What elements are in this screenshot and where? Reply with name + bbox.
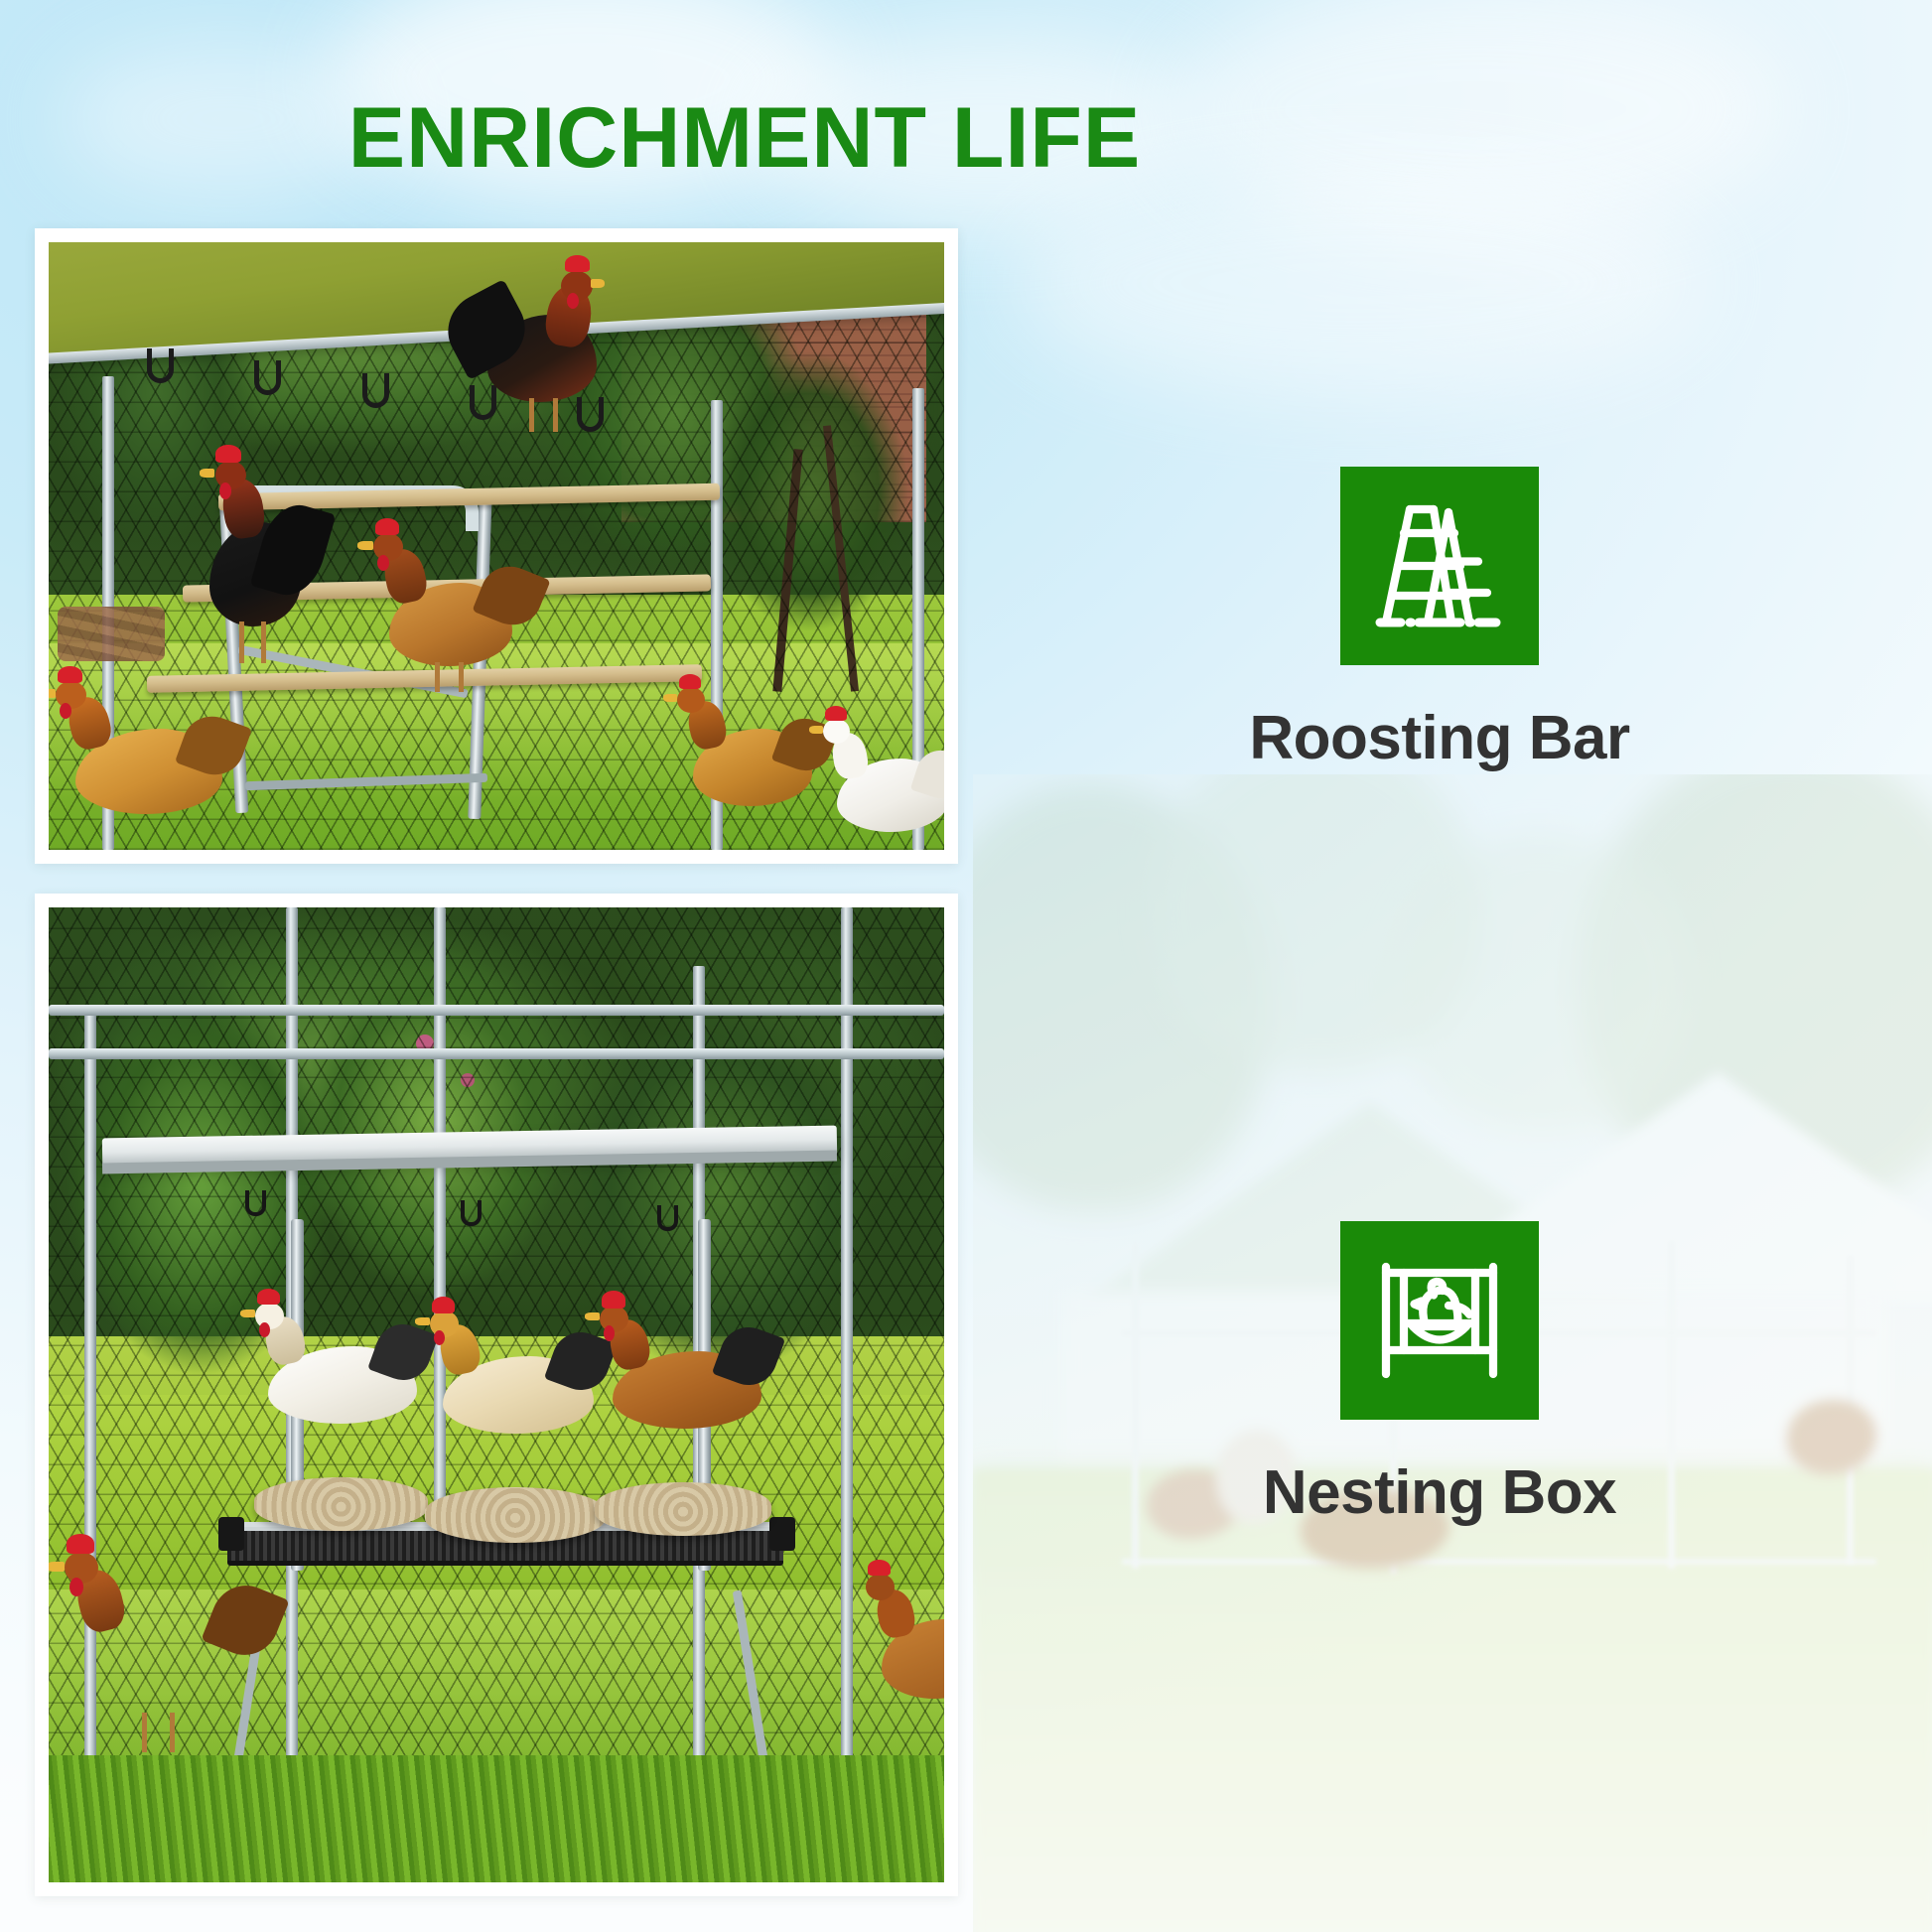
hen (613, 1351, 761, 1429)
hen (268, 1346, 417, 1424)
rooster (487, 315, 597, 402)
hen (443, 1356, 594, 1434)
feature-label: Nesting Box (1062, 1459, 1817, 1527)
hen (84, 1609, 258, 1719)
feature-nesting-box: Nesting Box (1062, 1221, 1817, 1527)
step-ladder-icon (1365, 491, 1514, 640)
nesting-box-hen-icon (1365, 1246, 1514, 1395)
feature-roosting-bar: Roosting Bar (1062, 467, 1817, 772)
rooster (209, 522, 301, 626)
nesting-box-icon-tile (1340, 1221, 1539, 1420)
hen (882, 1619, 944, 1699)
feature-label: Roosting Bar (1062, 705, 1817, 772)
hen (837, 759, 944, 832)
page-title: ENRICHMENT LIFE (0, 95, 1489, 181)
hen (389, 583, 512, 666)
nesting-box-photo-card (35, 894, 958, 1896)
roosting-bar-icon-tile (1340, 467, 1539, 665)
cloud (1013, 169, 1708, 397)
roosting-bar-photo (49, 242, 944, 850)
nesting-box-photo (49, 907, 944, 1882)
hen (693, 729, 812, 806)
poster-canvas: ENRICHMENT LIFE (0, 0, 1932, 1932)
roosting-bar-photo-card (35, 228, 958, 864)
hen (75, 729, 222, 814)
